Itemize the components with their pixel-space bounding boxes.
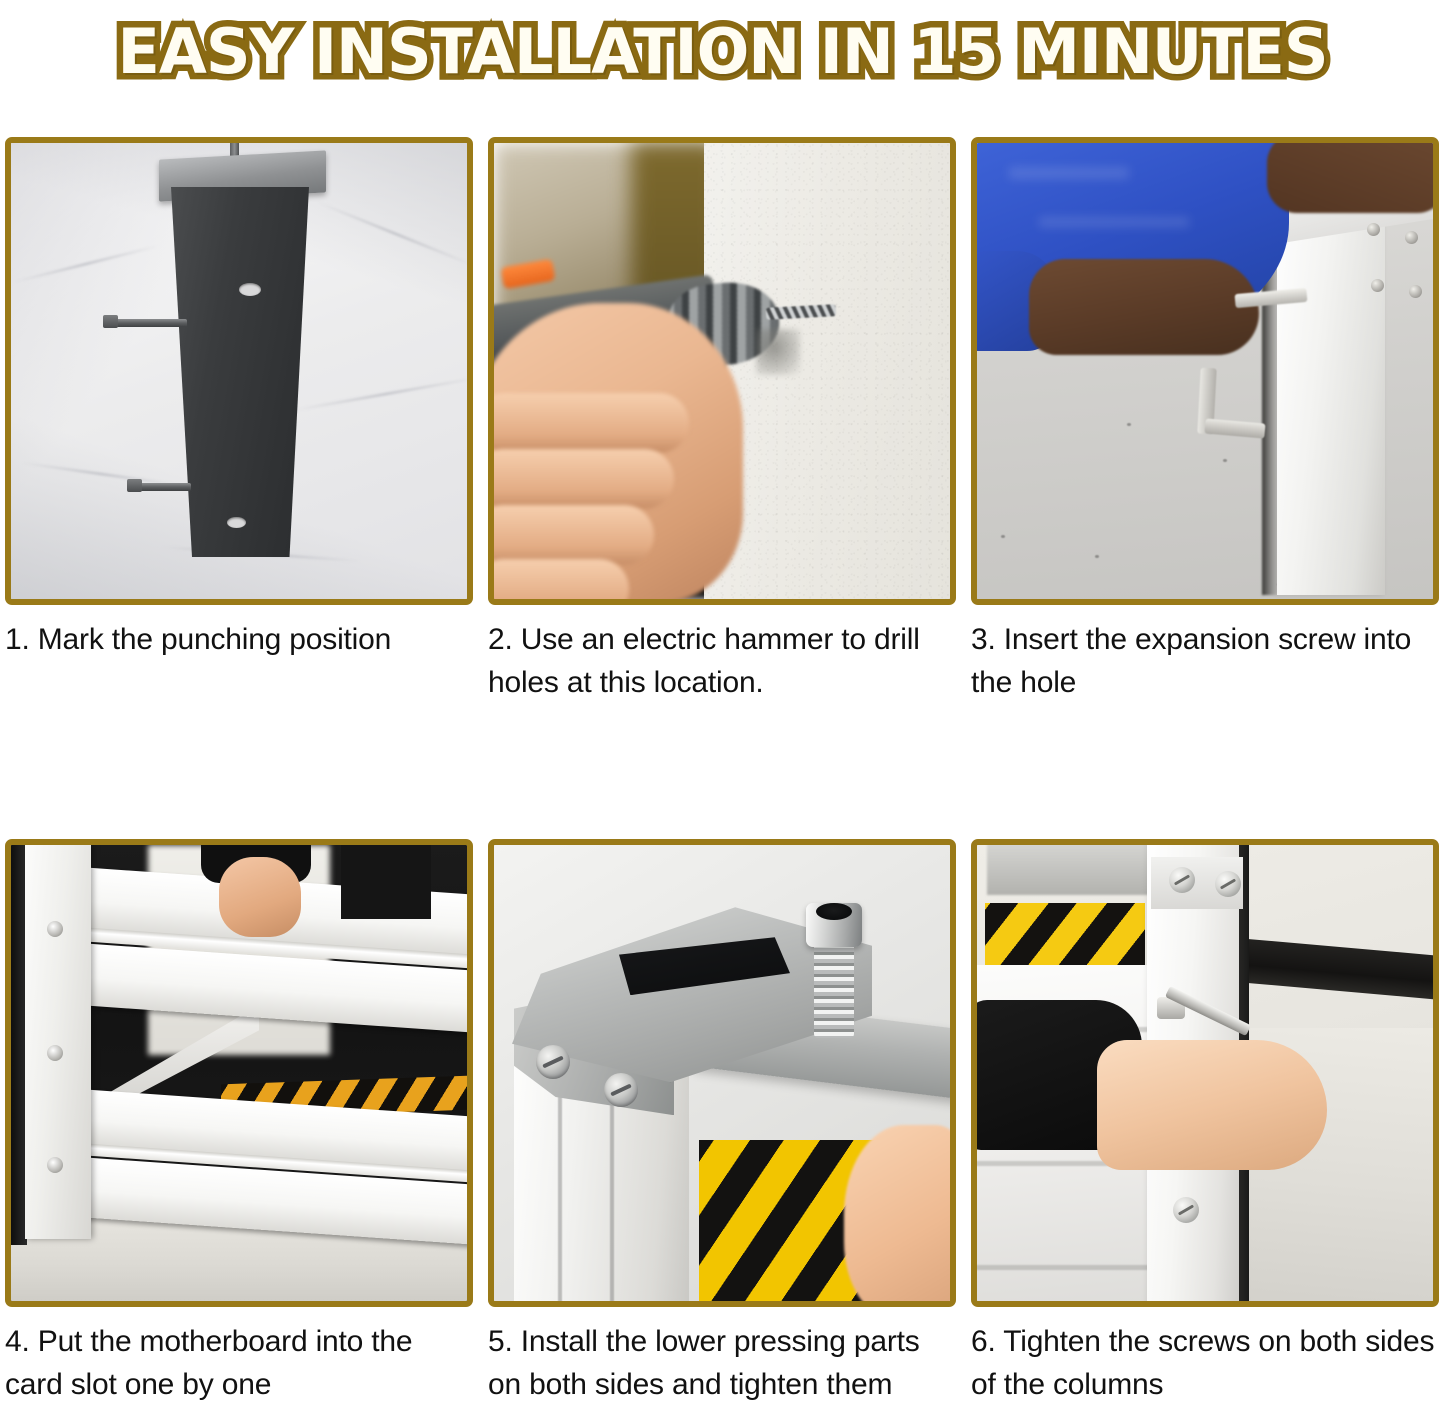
step-caption-3: 3. Insert the expansion screw into the h…	[971, 619, 1439, 704]
step-caption-2: 2. Use an electric hammer to drill holes…	[488, 619, 956, 704]
installer-hand	[844, 1125, 950, 1301]
step-photo-frame-2	[488, 137, 956, 605]
column-groove	[558, 1065, 562, 1301]
column-screw	[1405, 231, 1418, 244]
step-photo-4	[11, 845, 467, 1301]
side-bolt-lower-head	[127, 479, 142, 492]
floor-speck	[1223, 459, 1227, 462]
column-screw	[1173, 1197, 1199, 1223]
bracket-screw	[604, 1073, 638, 1107]
step-card-5: 5. Install the lower pressing parts on b…	[488, 839, 956, 1406]
side-bolt-upper-head	[103, 315, 118, 328]
step-photo-1	[11, 143, 467, 599]
step-photo-frame-4	[5, 839, 473, 1307]
step-caption-5: 5. Install the lower pressing parts on b…	[488, 1321, 956, 1406]
hazard-stripe-tape	[985, 903, 1145, 965]
floor-speck	[1001, 535, 1005, 538]
step-photo-frame-6	[971, 839, 1439, 1307]
step-photo-frame-1	[5, 137, 473, 605]
hex-bolt-shaft	[814, 933, 854, 1038]
step-photo-5	[494, 845, 950, 1301]
floor-speck	[1095, 555, 1099, 558]
step-card-1: 1. Mark the punching position	[5, 137, 473, 662]
step-card-2: 2. Use an electric hammer to drill holes…	[488, 137, 956, 704]
installer-hand	[1097, 1040, 1327, 1170]
page-title: EASY INSTALLATION IN 15 MINUTES	[118, 21, 1328, 83]
mounting-hole-upper	[239, 283, 261, 296]
step-card-6: 6. Tighten the screws on both sides of t…	[971, 839, 1439, 1406]
installation-guide-page: EASY INSTALLATION IN 15 MINUTES	[0, 0, 1445, 1352]
side-bolt-upper	[109, 319, 187, 327]
column-screw	[1367, 223, 1380, 236]
shirt-fold	[1009, 167, 1129, 179]
steps-row-top: 1. Mark the punching position	[5, 137, 1440, 704]
worker-hand	[1029, 259, 1259, 355]
column-with-card-slot	[25, 845, 91, 1239]
finger	[494, 449, 674, 509]
step-caption-6: 6. Tighten the screws on both sides of t…	[971, 1321, 1439, 1406]
step-photo-frame-3	[971, 137, 1439, 605]
page-header: EASY INSTALLATION IN 15 MINUTES	[0, 0, 1445, 104]
column-screw	[1409, 285, 1422, 298]
column-screw	[1371, 279, 1384, 292]
column-screw	[1169, 867, 1195, 893]
step-photo-6	[977, 845, 1433, 1301]
bracket-screw	[536, 1045, 570, 1079]
finger	[494, 505, 654, 565]
installer-hand	[219, 857, 301, 937]
step-card-3: 3. Insert the expansion screw into the h…	[971, 137, 1439, 704]
steps-row-bottom: 4. Put the motherboard into the card slo…	[5, 839, 1440, 1406]
finger	[494, 559, 629, 599]
worker-upper-hand	[1267, 143, 1433, 213]
background-person	[341, 845, 431, 919]
shirt-fold	[1039, 217, 1189, 227]
drill-dust	[756, 329, 800, 375]
top-bracket	[987, 845, 1167, 895]
floor-speck	[1127, 423, 1131, 426]
finger	[494, 393, 689, 453]
step-photo-2	[494, 143, 950, 599]
column-screw	[1215, 871, 1241, 897]
mounting-hole-lower	[227, 517, 246, 528]
steps-grid: 1. Mark the punching position	[5, 137, 1440, 1406]
step-photo-frame-5	[488, 839, 956, 1307]
panel-groove	[977, 1265, 1161, 1270]
step-card-4: 4. Put the motherboard into the card slo…	[5, 839, 473, 1406]
step-caption-4: 4. Put the motherboard into the card slo…	[5, 1321, 473, 1406]
step-caption-1: 1. Mark the punching position	[5, 619, 473, 662]
step-photo-3	[977, 143, 1433, 599]
